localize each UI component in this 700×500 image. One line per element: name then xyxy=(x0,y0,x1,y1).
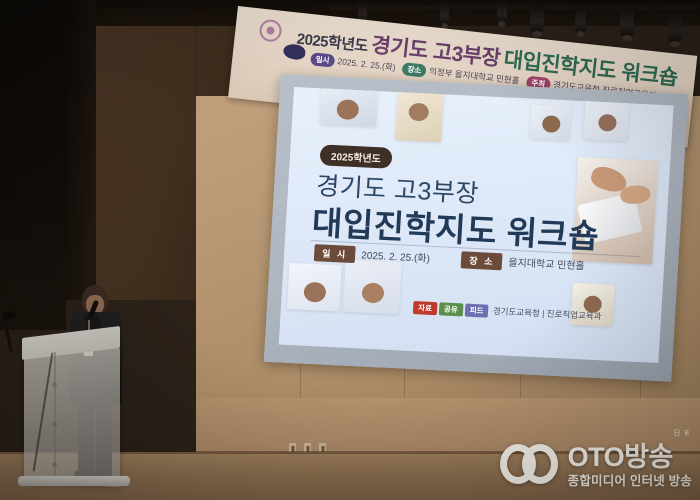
overhead-person-photo xyxy=(320,87,378,127)
corner-mark: 日 B xyxy=(673,428,690,438)
overhead-person-photo xyxy=(583,99,629,141)
slide-date-value: 2025. 2. 25.(화) xyxy=(361,250,430,264)
spotlight-icon xyxy=(530,6,544,34)
lectern-fastener xyxy=(52,462,57,467)
lectern-fastener xyxy=(52,422,57,427)
broadcaster-watermark: OTO방송 종합미디어 인터넷 방송 xyxy=(500,444,692,488)
banner-date-pill: 일시 xyxy=(310,52,335,67)
slide-footer-badge-2: 공유 xyxy=(439,302,464,316)
projection-screen: 2025학년도 경기도 고3부장 대입진학지도 워크숍 일 시2025. 2. … xyxy=(264,74,689,381)
lectern xyxy=(24,341,120,488)
overhead-person-photo xyxy=(529,105,571,141)
slide-year-tag: 2025학년도 xyxy=(319,144,392,168)
banner-emblem-icon xyxy=(258,19,282,43)
overhead-person-photo xyxy=(287,263,342,311)
lectern-base xyxy=(18,476,130,486)
slide-place-value: 을지대학교 민현홀 xyxy=(508,258,585,273)
spotlight-icon xyxy=(440,2,449,26)
oto-rings-logo-icon xyxy=(500,444,558,488)
banner-year: 2025학년도 xyxy=(296,31,369,56)
dark-left-wall xyxy=(0,0,66,330)
spotlight-icon xyxy=(668,14,682,44)
projected-slide: 2025학년도 경기도 고3부장 대입진학지도 워크숍 일 시2025. 2. … xyxy=(279,87,674,363)
banner-place-pill: 장소 xyxy=(402,62,427,77)
spotlight-icon xyxy=(620,8,634,38)
overhead-person-photo xyxy=(343,260,402,315)
ceiling xyxy=(96,0,700,26)
lectern-rail xyxy=(54,352,56,478)
slide-place-label: 장 소 xyxy=(461,251,503,270)
slide-footer-badge-1: 자료 xyxy=(413,301,438,315)
overhead-person-photo xyxy=(395,87,444,142)
photograph-scene: 2025학년도 경기도 고3부장 대입진학지도 워크숍 일시2025. 2. 2… xyxy=(0,0,700,500)
lighting-truss xyxy=(330,5,700,10)
watermark-subtitle: 종합미디어 인터넷 방송 xyxy=(568,475,692,488)
slide-footer-badge-3: 피드 xyxy=(464,304,489,318)
lectern-fastener xyxy=(52,382,57,387)
spotlight-icon xyxy=(497,2,507,24)
watermark-title: OTO방송 xyxy=(568,444,692,471)
spotlight-icon xyxy=(575,8,586,34)
slide-date-label: 일 시 xyxy=(314,244,356,263)
